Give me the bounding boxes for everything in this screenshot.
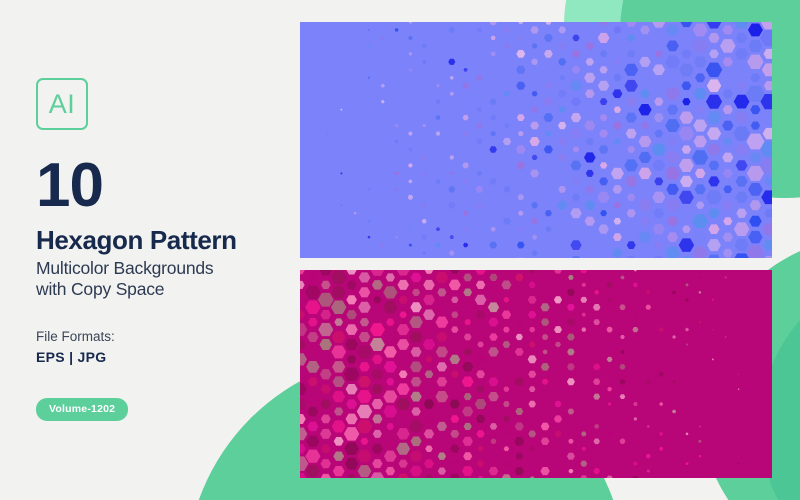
page-subtitle: Multicolor Backgrounds with Copy Space	[36, 258, 286, 300]
ai-format-badge: AI	[36, 78, 88, 130]
pink-hexagon-preview	[300, 270, 772, 478]
file-formats-value: EPS | JPG	[36, 348, 286, 367]
pink-hexagon-pattern	[300, 270, 772, 478]
item-count: 10	[36, 158, 286, 214]
info-panel: AI 10 Hexagon Pattern Multicolor Backgro…	[36, 78, 286, 421]
file-formats-block: File Formats: EPS | JPG	[36, 328, 286, 367]
file-formats-label: File Formats:	[36, 328, 286, 346]
blue-hexagon-pattern	[300, 22, 772, 258]
blue-hexagon-preview	[300, 22, 772, 258]
page-title: Hexagon Pattern	[36, 226, 286, 254]
poster-canvas: AI 10 Hexagon Pattern Multicolor Backgro…	[0, 0, 800, 500]
page-subtitle-line-2: with Copy Space	[36, 279, 286, 300]
page-subtitle-line-1: Multicolor Backgrounds	[36, 258, 286, 279]
ai-format-badge-label: AI	[49, 91, 76, 118]
volume-badge: Volume-1202	[36, 398, 128, 421]
